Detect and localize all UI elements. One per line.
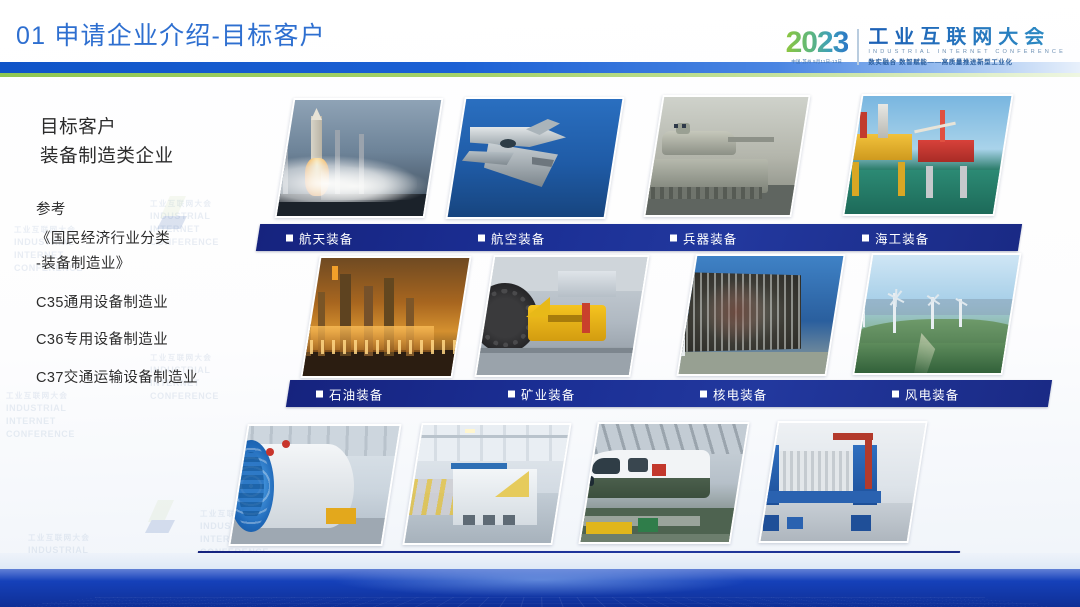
footer-fade bbox=[0, 553, 1080, 569]
caption-label: 航空装备 bbox=[491, 228, 545, 247]
footer-band bbox=[0, 569, 1080, 607]
caption-bullet-icon bbox=[508, 390, 515, 397]
logo-year: 2023 bbox=[786, 28, 849, 58]
footer-grid-pattern bbox=[0, 597, 1080, 607]
photo-rocket-launch bbox=[274, 98, 443, 218]
caption-bullet-icon bbox=[862, 234, 869, 241]
photo-machine-tool-factory bbox=[402, 423, 571, 545]
lead-heading: 目标客户 装备制造类企业 bbox=[40, 112, 174, 170]
reference-item-c37: C37交通运输设备制造业 bbox=[36, 368, 198, 390]
logo-name-cn: 工业互联网大会 bbox=[868, 27, 1066, 48]
caption-label: 兵器装备 bbox=[683, 228, 737, 247]
reference-label: 参考 bbox=[36, 200, 198, 222]
reference-quote-line1: 《国民经济行业分类 bbox=[36, 227, 198, 252]
photo-wind-farm bbox=[852, 253, 1021, 375]
caption-bullet-icon bbox=[892, 390, 899, 397]
logo-year-block: 2023 中国·苏州 5月11日-13日 bbox=[786, 28, 849, 65]
caption-bullet-icon bbox=[316, 390, 323, 397]
caption-bullet-icon bbox=[700, 390, 707, 397]
caption-label: 风电装备 bbox=[905, 384, 959, 403]
caption-bullet-icon bbox=[286, 234, 293, 241]
caption-label: 石油装备 bbox=[329, 384, 383, 403]
caption-bullet-icon bbox=[478, 234, 485, 241]
logo-slogan: 数实融合 数智赋能——高质量推进新型工业化 bbox=[868, 57, 1066, 66]
reference-item-c35: C35通用设备制造业 bbox=[36, 293, 198, 315]
reference-quote-line2: -装备制造业》 bbox=[36, 252, 198, 277]
photo-high-speed-train bbox=[578, 422, 749, 544]
photo-tunnel-boring-machine bbox=[228, 424, 401, 546]
slide-canvas: 工业互联网大会INDUSTRIAL INTERNET CONFERENCE 工业… bbox=[0, 0, 1080, 607]
photo-fighter-jet bbox=[445, 97, 624, 219]
caption-label: 海工装备 bbox=[875, 228, 929, 247]
caption-label: 矿业装备 bbox=[521, 384, 575, 403]
conference-logo: 2023 中国·苏州 5月11日-13日 工业互联网大会 INDUSTRIAL … bbox=[786, 27, 1066, 66]
photo-filter-press bbox=[758, 421, 927, 543]
caption-label: 航天装备 bbox=[299, 228, 353, 247]
caption-bullet-icon bbox=[670, 234, 677, 241]
photo-offshore-oil-rig bbox=[842, 94, 1013, 216]
caption-bar-row-2: 石油装备 矿业装备 核电装备 风电装备 bbox=[286, 380, 1052, 407]
photo-battle-tank bbox=[643, 95, 810, 217]
caption-bar-row-1: 航天装备 航空装备 兵器装备 海工装备 bbox=[256, 224, 1022, 251]
reference-block: 参考 《国民经济行业分类 -装备制造业》 C35通用设备制造业 C36专用设备制… bbox=[36, 200, 198, 390]
reference-item-c36: C36专用设备制造业 bbox=[36, 330, 198, 352]
page-title: 01 申请企业介绍-目标客户 bbox=[16, 16, 326, 52]
logo-year-subtitle: 中国·苏州 5月11日-13日 bbox=[792, 59, 843, 65]
logo-name-en: INDUSTRIAL INTERNET CONFERENCE bbox=[868, 49, 1066, 55]
photo-steam-turbine bbox=[676, 254, 845, 376]
footer-haze bbox=[330, 569, 750, 597]
logo-divider bbox=[857, 29, 859, 65]
logo-text-block: 工业互联网大会 INDUSTRIAL INTERNET CONFERENCE 数… bbox=[868, 27, 1066, 66]
header-rule-green bbox=[0, 73, 1080, 77]
caption-label: 核电装备 bbox=[713, 384, 767, 403]
photo-mining-machine bbox=[474, 255, 649, 377]
photo-oil-refinery bbox=[300, 256, 471, 378]
